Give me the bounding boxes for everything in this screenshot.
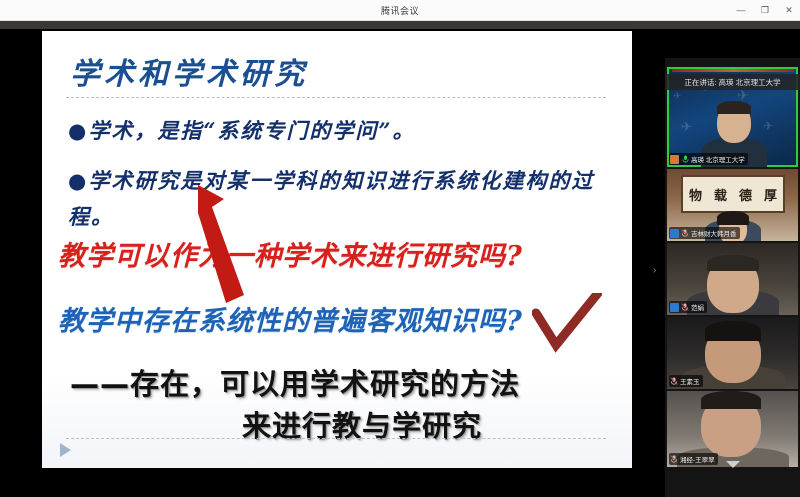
user-badge-icon <box>670 229 679 238</box>
close-icon[interactable]: ✕ <box>782 6 796 15</box>
mic-on-icon <box>681 155 689 164</box>
calligraphy-artwork: 物 载 德 厚 <box>681 175 785 213</box>
slide-bullet-1: ●学术，是指“系统专门的学问”。 <box>68 115 415 145</box>
slide-play-icon[interactable] <box>60 443 71 457</box>
participant-tile[interactable]: 范娟 <box>667 243 798 315</box>
participant-label: 吉林财大韩月香 <box>669 227 740 239</box>
slide-content: 学术和学术研究 ●学术，是指“系统专门的学问”。 ●学术研究是对某一学科的知识进… <box>42 31 632 468</box>
sidebar-collapse-icon[interactable]: › <box>653 265 656 276</box>
shared-slide[interactable]: 学术和学术研究 ●学术，是指“系统专门的学问”。 ●学术研究是对某一学科的知识进… <box>42 31 632 468</box>
window-title: 腾讯会议 <box>381 4 419 17</box>
speaking-banner: 正在讲话: 高瑛 北京理工大学 <box>665 74 800 90</box>
participant-tile[interactable]: 王素玉 <box>667 317 798 389</box>
participant-name: 王素玉 <box>680 376 700 386</box>
check-mark-icon <box>532 293 602 353</box>
calligraphy-char: 物 <box>689 185 702 204</box>
tile-banner-decoration <box>672 69 794 72</box>
meeting-window: 腾讯会议 — ❐ ✕ 学术和学术研究 ●学术，是指“系统专门的学问”。 ●学术研… <box>0 0 800 468</box>
speaking-banner-text: 正在讲话: 高瑛 北京理工大学 <box>684 77 780 88</box>
participant-name: 高瑛 北京理工大学 <box>691 154 745 164</box>
participant-label: 范娟 <box>669 301 707 313</box>
user-badge-icon <box>670 303 679 312</box>
maximize-icon[interactable]: ❐ <box>758 6 772 15</box>
slide-divider-bottom <box>66 438 606 439</box>
participant-tile[interactable]: 湘经-王翠翠 <box>667 391 798 467</box>
slide-question-blue: 教学中存在系统性的普遍客观知识吗? <box>58 299 523 338</box>
slide-answer-line-1: ——存在，可以用学术研究的方法 <box>70 361 520 403</box>
slide-question-red: 教学可以作为一种学术来进行研究吗? <box>58 234 523 273</box>
participant-label: 湘经-王翠翠 <box>669 453 718 465</box>
title-bar: 腾讯会议 — ❐ ✕ <box>0 0 800 21</box>
sidebar-scroll-down-icon[interactable] <box>726 461 740 468</box>
toolbar-strip <box>0 21 800 29</box>
slide-divider-top <box>66 97 606 98</box>
mic-muted-icon <box>670 377 678 386</box>
window-controls: — ❐ ✕ <box>734 0 796 20</box>
minimize-icon[interactable]: — <box>734 6 748 15</box>
calligraphy-char: 德 <box>739 185 752 204</box>
calligraphy-char: 载 <box>714 185 727 204</box>
mic-muted-icon <box>670 455 678 464</box>
meeting-stage: 学术和学术研究 ●学术，是指“系统专门的学问”。 ●学术研究是对某一学科的知识进… <box>0 29 800 468</box>
participant-label: 高瑛 北京理工大学 <box>669 153 748 165</box>
calligraphy-char: 厚 <box>764 185 777 204</box>
participant-name: 吉林财大韩月香 <box>691 228 737 238</box>
participant-tile[interactable]: 物 载 德 厚 吉林财大韩月香 <box>667 169 798 241</box>
participant-name: 范娟 <box>691 302 704 312</box>
host-badge-icon <box>670 155 679 164</box>
mic-muted-icon <box>681 229 689 238</box>
slide-title: 学术和学术研究 <box>70 49 308 93</box>
participant-name: 湘经-王翠翠 <box>680 454 715 464</box>
mic-muted-icon <box>681 303 689 312</box>
participant-label: 王素玉 <box>669 375 703 387</box>
slide-bullet-2: ●学术研究是对某一学科的知识进行系统化建构的过程。 <box>68 163 613 235</box>
